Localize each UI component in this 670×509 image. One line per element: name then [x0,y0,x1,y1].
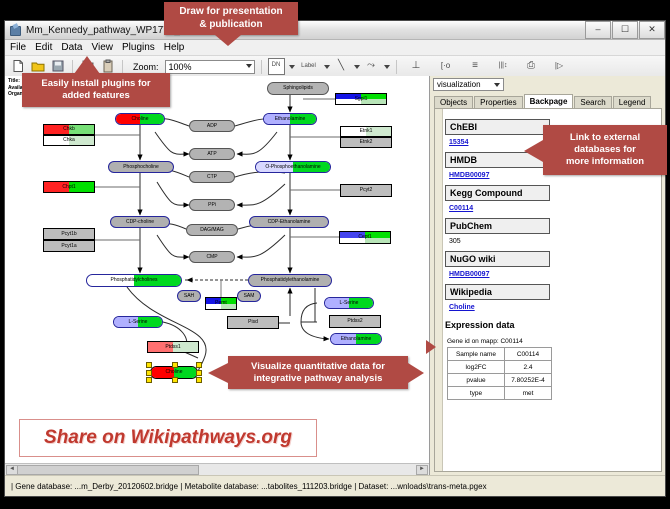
node-label: ADP [207,124,217,129]
stack-icon[interactable]: ≡ [467,58,484,75]
table-cell-value: 2.4 [505,361,552,374]
visualization-select-value: visualization [437,80,481,89]
gene-node[interactable]: Ptdss1 [147,341,199,353]
toolbar-separator [396,60,397,74]
maximize-button[interactable]: ☐ [612,21,638,39]
status-bar: | Gene database: ...m_Derby_20120602.bri… [5,475,665,496]
menu-item-plugins[interactable]: Plugins [122,42,155,53]
selection-handle[interactable] [172,362,178,368]
chevron-down-icon [494,83,500,87]
panel-tabs: Objects Properties Backpage Search Legen… [434,95,663,109]
toolbar-separator [72,60,73,74]
order-icon[interactable]: |▷ [551,58,568,75]
toolbar-separator [261,60,262,74]
expression-data-table: Sample name C00114 log2FC 2.4 pvalue 7.8… [447,347,552,400]
selection-handle[interactable] [172,377,178,383]
table-cell-key: type [448,387,505,400]
gene-node[interactable]: Cept1 [339,231,391,244]
section-header-chebi: ChEBI [445,119,550,135]
line-dropdown-icon[interactable] [354,65,360,69]
kegg-link[interactable]: C00114 [449,205,659,212]
distribute-icon[interactable]: |||↕ [495,58,512,75]
panel-left-rail [435,109,443,471]
node-label: Chkb [63,127,75,132]
table-cell-key: Sample name [448,348,505,361]
pathway-node[interactable]: SAM [237,290,261,302]
node-label: Choline [132,117,149,122]
callout-plugins: Easily install plugins for added feature… [22,73,170,107]
pathway-node[interactable]: Ethanolamine [263,113,317,125]
node-label: Phosphatidylethanolamine [261,278,320,283]
node-label: L-Serine [129,320,148,325]
expression-data-header: Expression data [445,320,659,330]
node-label: L-Serine [340,301,359,306]
pathway-canvas[interactable]: Title: Availa Organi [5,76,430,475]
node-label: PPi [208,203,216,208]
pathway-node[interactable]: CTP [189,171,235,183]
pathway-node[interactable]: CMP [189,251,235,263]
table-cell-key: log2FC [448,361,505,374]
node-label: Etnk1 [360,129,373,134]
gene-id-line: Gene id on mapp: C00114 [447,338,659,345]
pathway-node[interactable]: Phosphatidylcholines [86,274,182,287]
node-label: SAH [184,294,194,299]
table-row: Sample name C00114 [448,348,552,361]
node-label: SAM [244,294,255,299]
node-label: Ptdss2 [347,319,362,324]
share-banner-text: Share on Wikipathways.org [44,427,292,449]
node-label: DAG/MAG [200,228,224,233]
node-label: Phosphatidylcholines [111,278,158,283]
window-titlebar: Mm_Kennedy_pathway_WP1771_45176.gpml – ☐… [5,21,665,40]
pathway-node[interactable]: O-Phosphoethanolamine [255,161,331,173]
print-icon[interactable]: ⎙ [523,58,540,75]
datanode-dropdown-icon[interactable] [289,65,295,69]
gene-node[interactable]: Pcyt1b [43,228,95,240]
node-label: Pisd [248,320,258,325]
pathway-node[interactable]: L-Serine [324,297,374,309]
selection-handle[interactable] [196,377,202,383]
label-tool-icon[interactable]: Label [298,58,320,75]
callout-visualize-arrow-right [408,363,424,383]
table-row: log2FC 2.4 [448,361,552,374]
gene-node[interactable]: Etnk1 [340,126,392,137]
zoom-value: 100% [169,62,192,72]
visualization-select[interactable]: visualization [433,78,504,91]
selection-handle[interactable] [146,377,152,383]
node-label: CTP [207,175,217,180]
pathway-node[interactable]: Ethanolamine [330,333,382,345]
close-button[interactable]: ✕ [639,21,665,39]
arrow-dropdown-icon[interactable] [384,65,390,69]
node-label: CMP [206,255,217,260]
menu-item-view[interactable]: View [91,42,113,53]
screenshot-root: Mm_Kennedy_pathway_WP1771_45176.gpml – ☐… [0,0,670,509]
canvas-horizontal-scrollbar[interactable]: ◄ ► [5,463,429,475]
pathway-node[interactable]: DAG/MAG [186,224,238,236]
pathway-node[interactable]: ATP [189,148,235,160]
pathway-node[interactable]: Phosphocholine [108,161,174,173]
group-icon[interactable]: [·o [436,58,456,75]
node-label: Etnk2 [360,140,373,145]
gene-node[interactable]: Chkb [43,124,95,135]
node-label: Pcyt2 [360,188,373,193]
pathway-node[interactable]: Choline [115,113,165,125]
node-label: Choline [166,370,183,375]
pathway-node[interactable]: Sphingolipids [267,82,329,95]
gene-node[interactable]: Pcyt1a [43,240,95,252]
line-tool-icon[interactable]: ╲ [333,58,350,75]
node-label: Pcyt1b [61,232,76,237]
pathway-node[interactable]: SAH [177,290,201,302]
application-icon [9,24,21,36]
pathway-node[interactable]: CDP-choline [110,216,170,228]
datanode-tool-icon[interactable]: DN [268,58,285,75]
status-bar-text: | Gene database: ...m_Derby_20120602.bri… [5,482,487,491]
window-controls: – ☐ ✕ [584,21,665,39]
label-dropdown-icon[interactable] [324,65,330,69]
node-label: Cept1 [358,235,371,240]
node-label: O-Phosphoethanolamine [265,165,320,170]
zoom-combobox[interactable]: 100% [165,60,255,74]
gene-node[interactable]: Sgpl1 [335,93,387,105]
node-label: Sphingolipids [283,86,313,91]
pathway-node[interactable]: Phosphatidylethanolamine [248,274,332,287]
node-label: Pemt [215,301,227,306]
selection-handle[interactable] [146,370,152,376]
pathway-node[interactable]: ADP [189,120,235,132]
section-header-pubchem: PubChem [445,218,550,234]
section-header-wikipedia: Wikipedia [445,284,550,300]
pathway-node[interactable]: PPi [189,199,235,211]
menu-bar: File Edit Data View Plugins Help [5,40,665,56]
node-label: Ethanolamine [341,337,372,342]
table-row: pvalue 7.80252E-4 [448,374,552,387]
gene-node[interactable]: Ptdss2 [329,315,381,328]
scroll-right-button[interactable]: ► [416,465,428,475]
menu-item-help[interactable]: Help [164,42,185,53]
nugo-link[interactable]: HMDB00097 [449,271,659,278]
arrow-tool-icon[interactable]: ⤳ [363,58,380,75]
table-row: type met [448,387,552,400]
pathway-node[interactable]: CDP-Ethanolamine [249,216,329,228]
table-cell-value: 7.80252E-4 [505,374,552,387]
zoom-label: Zoom: [133,62,159,72]
chevron-down-icon [246,64,252,68]
toolbar-separator [122,60,123,74]
scrollbar-thumb[interactable] [17,465,199,475]
section-header-nugo: NuGO wiki [445,251,550,267]
table-cell-value: met [505,387,552,400]
pathway-node[interactable]: L-Serine [113,316,163,328]
node-label: CDP-Ethanolamine [268,220,311,225]
menu-item-edit[interactable]: Edit [35,42,52,53]
node-label: Ptdss1 [165,345,180,350]
share-banner: Share on Wikipathways.org [19,419,317,457]
callout-links-arrow-secondary [426,340,436,354]
gene-node[interactable]: Pemt [205,297,237,310]
node-label: Ethanolamine [275,117,306,122]
callout-plugins-arrow [74,56,100,74]
menu-item-data[interactable]: Data [61,42,82,53]
callout-links-arrow [524,140,543,162]
selection-handle[interactable] [196,362,202,368]
node-label: Sgpl1 [355,97,368,102]
pubchem-value: 305 [449,238,659,245]
align-icon[interactable]: ⊥ [408,58,425,75]
callout-draw: Draw for presentation & publication [164,2,298,35]
menu-item-file[interactable]: File [10,42,26,53]
node-label: Chpt1 [62,185,75,190]
callout-links: Link to external databases for more info… [543,125,667,175]
node-label: Pcyt1a [61,244,76,249]
tab-backpage[interactable]: Backpage [524,94,574,109]
minimize-button[interactable]: – [585,21,611,39]
table-cell-value: C00114 [505,348,552,361]
table-cell-key: pvalue [448,374,505,387]
gene-node[interactable]: Chpt1 [43,181,95,193]
callout-draw-arrow [215,35,241,46]
gene-node[interactable]: Pcyt2 [340,184,392,197]
selection-handle[interactable] [196,370,202,376]
node-label: Phosphocholine [123,165,159,170]
gene-node[interactable]: Pisd [227,316,279,329]
wikipedia-link[interactable]: Choline [449,304,659,311]
node-label: CDP-choline [126,220,154,225]
selection-handle[interactable] [146,362,152,368]
node-label: ATP [207,152,216,157]
callout-visualize-arrow-left [208,363,228,383]
gene-node[interactable]: Chka [43,135,95,146]
section-header-kegg: Kegg Compound [445,185,550,201]
node-label: Chka [63,138,75,143]
gene-node[interactable]: Etnk2 [340,137,392,148]
callout-visualize: Visualize quantitative data for integrat… [228,356,408,389]
